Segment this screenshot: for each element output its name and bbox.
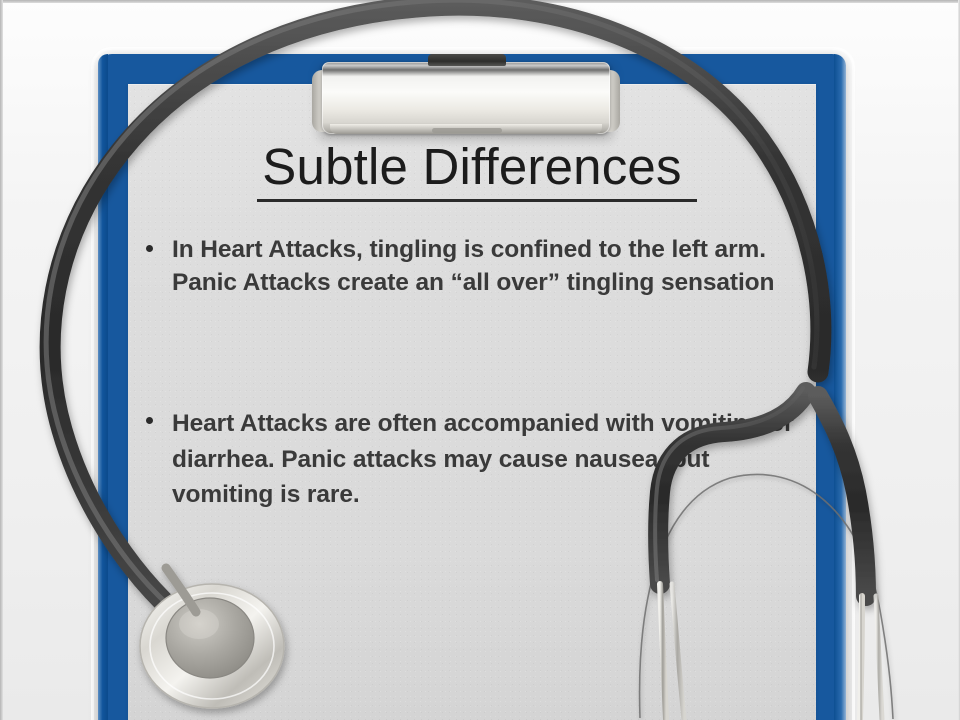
bullet-dot-icon [146,234,172,252]
clip-notch [432,128,502,133]
slide-canvas: Subtle Differences In Heart Attacks, tin… [0,0,960,720]
title-underline [257,199,697,202]
frame-left-edge [0,0,3,720]
list-item: Heart Attacks are often accompanied with… [146,406,816,513]
page-title: Subtle Differences [128,140,816,194]
list-item: In Heart Attacks, tingling is confined t… [146,234,816,300]
frame-top-edge [0,0,960,3]
slide-content: Subtle Differences In Heart Attacks, tin… [128,84,816,720]
bullet-dot-icon [146,406,172,424]
bullet-text: Heart Attacks are often accompanied with… [172,406,816,513]
bullet-text: In Heart Attacks, tingling is confined t… [172,234,816,300]
clip-tab [428,54,506,66]
